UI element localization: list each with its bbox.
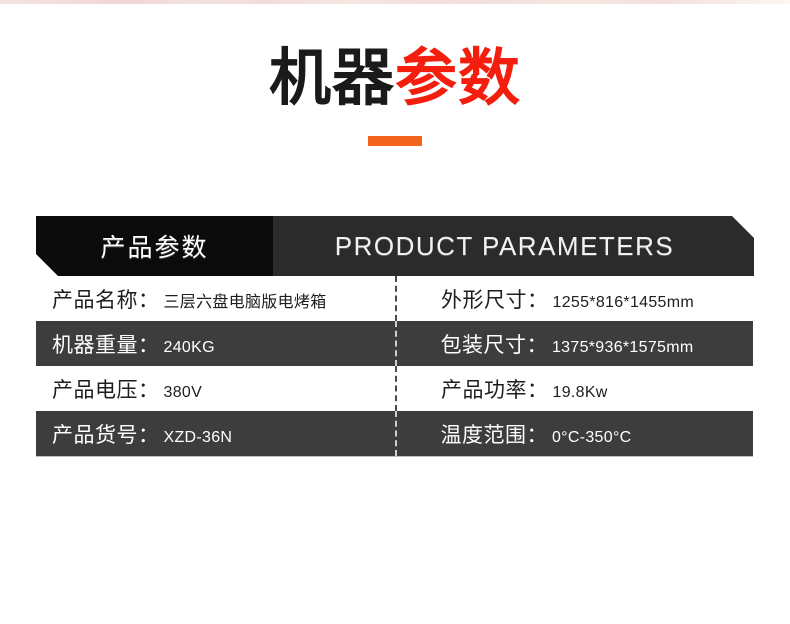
spec-value: 380V (164, 384, 203, 402)
spec-cell-right: 外形尺寸： 1255*816*1455mm (395, 284, 754, 314)
table-header-cn: 产品参数 (36, 216, 273, 276)
title-underline-bar (368, 136, 422, 146)
spec-cell-left: 产品电压： 380V (36, 374, 395, 404)
table-row: 产品电压： 380V 产品功率： 19.8Kw (36, 366, 754, 411)
spec-value: 三层六盘电脑版电烤箱 (164, 288, 327, 312)
spec-cell-right: 包装尺寸： 1375*936*1575mm (394, 329, 753, 359)
page-title-dark-part: 机器 (269, 44, 395, 113)
page-title-red-part: 参数 (395, 44, 521, 113)
column-divider (395, 276, 397, 321)
spec-value: 0°C-350°C (552, 429, 632, 447)
table-body: 产品名称： 三层六盘电脑版电烤箱 外形尺寸： 1255*816*1455mm 机… (36, 276, 754, 456)
spec-value: 240KG (164, 339, 215, 357)
table-row: 产品名称： 三层六盘电脑版电烤箱 外形尺寸： 1255*816*1455mm (36, 276, 754, 321)
table-row: 产品货号： XZD-36N 温度范围： 0°C-350°C (36, 411, 753, 456)
spec-cell-right: 产品功率： 19.8Kw (395, 374, 754, 404)
spec-label: 产品功率： (441, 374, 549, 404)
spec-cell-left: 产品名称： 三层六盘电脑版电烤箱 (36, 284, 395, 314)
table-header-en: PRODUCT PARAMETERS (273, 216, 754, 276)
spec-cell-left: 机器重量： 240KG (36, 329, 394, 359)
spec-label: 温度范围： (440, 419, 548, 449)
page-title-block: 机器参数 (0, 48, 790, 146)
spec-value: 1255*816*1455mm (553, 294, 695, 312)
spec-value: 19.8Kw (553, 384, 608, 402)
spec-cell-right: 温度范围： 0°C-350°C (394, 419, 753, 449)
spec-label: 机器重量： (52, 329, 160, 359)
column-divider (395, 321, 397, 366)
column-divider (395, 366, 397, 411)
spec-label: 包装尺寸： (440, 329, 548, 359)
table-row: 机器重量： 240KG 包装尺寸： 1375*936*1575mm (36, 321, 753, 366)
spec-value: 1375*936*1575mm (552, 339, 694, 357)
column-divider (395, 411, 397, 456)
spec-cell-left: 产品货号： XZD-36N (36, 419, 394, 449)
table-header: 产品参数 PRODUCT PARAMETERS (36, 216, 754, 276)
top-edge-strip (0, 0, 790, 4)
spec-label: 产品名称： (52, 284, 160, 314)
spec-value: XZD-36N (164, 429, 233, 447)
spec-label: 产品货号： (52, 419, 160, 449)
product-parameters-table: 产品参数 PRODUCT PARAMETERS 产品名称： 三层六盘电脑版电烤箱… (36, 216, 754, 456)
page-title: 机器参数 (0, 48, 790, 110)
spec-label: 产品电压： (52, 374, 160, 404)
spec-label: 外形尺寸： (441, 284, 549, 314)
